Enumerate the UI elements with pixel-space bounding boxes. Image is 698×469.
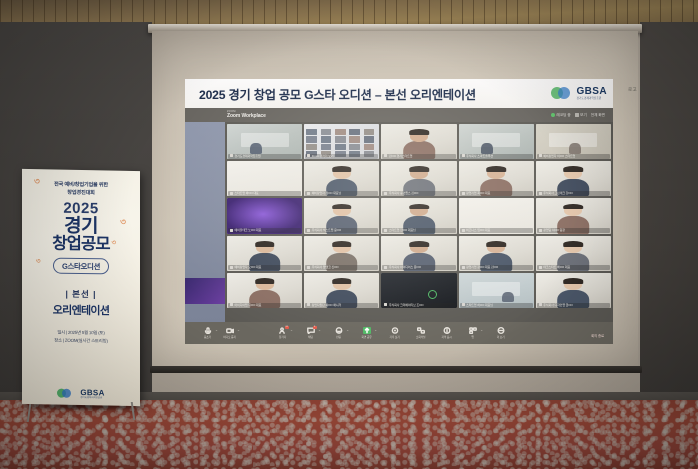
participant-name-label: 경기도경제과학진흥원	[228, 154, 301, 159]
participant-tile[interactable]: 창업기업 장OO 대표 김OO	[459, 236, 534, 271]
zoom-sidebar-panel	[185, 122, 225, 322]
page-title: 2025 경기 창업 공모 G스타 오디션 – 본선 오리엔테이션	[199, 85, 476, 103]
toolbar-button-label: 반응	[336, 335, 341, 339]
room-furniture	[472, 133, 520, 147]
toolbar-button-label: 자막 표시	[442, 335, 452, 339]
microphone-button[interactable]: 음소거	[199, 327, 216, 339]
presentation-slide: 2025 경기 창업 공모 G스타 오디션 – 본선 오리엔테이션 GBSA 경…	[185, 79, 613, 344]
seated-person	[502, 292, 514, 303]
participant-hair	[332, 278, 352, 284]
participant-name-label: 창업기업 장OO 대표 김OO	[460, 265, 533, 270]
participant-name-label: 창업팀 서OO 팀장	[537, 228, 610, 233]
participant-tile[interactable]: 주식회사 그린테크 강OO	[536, 161, 611, 196]
participant-tile[interactable]: 주식회사 아이디어스 문OO	[381, 236, 456, 271]
record-button[interactable]: 기록 보기	[386, 327, 403, 339]
conference-room-photo: 2025 경기 창업 공모 G스타 오디션 – 본선 오리엔테이션 GBSA 경…	[0, 0, 698, 469]
zoom-brand-name: Zoom Workplace	[227, 114, 266, 119]
participant-name-label: 아이디어랩 유OO 대표	[228, 303, 301, 308]
participant-name-label: 창업기업 최OO 대표	[460, 191, 533, 196]
projector-screen-weight-bar	[150, 366, 642, 373]
participant-hair	[486, 241, 506, 247]
banner-logo-row: GBSA 경기도경제과학진흥원	[22, 387, 140, 400]
participant-name-label: 스타트업 허OO 대표님	[460, 303, 533, 308]
gbsa-circles-icon	[551, 87, 573, 100]
gbsa-wordmark: GBSA 경기도경제과학진흥원	[577, 87, 608, 101]
participant-name-label: 예비창업자 오OO 대표	[228, 265, 301, 270]
grid-view-icon	[575, 113, 579, 117]
participants-icon: 74	[279, 327, 287, 334]
shared-screen-thumb	[349, 136, 360, 142]
banner-gbsa-subtitle: 경기도경제과학진흥원	[80, 397, 104, 400]
participant-name-label: 주식회사 팜앤코 신OO	[305, 265, 378, 270]
participant-hair	[409, 166, 429, 172]
slide-title-bar: 2025 경기 창업 공모 G스타 오디션 – 본선 오리엔테이션 GBSA 경…	[185, 79, 613, 108]
participant-name-label: 창업지원단 황OO 매니저	[305, 303, 378, 308]
shared-screen-thumb	[335, 129, 346, 135]
zoom-top-bar: ZOOM Zoom Workplace 레코딩 중 보기	[185, 108, 613, 122]
toolbar-badge-count: 3	[313, 326, 317, 329]
participant-tile[interactable]: 스타트업 허OO 대표님	[459, 273, 534, 308]
participant-name-label: 주식회사 아이디어스 문OO	[382, 265, 455, 270]
participant-hair	[564, 241, 584, 247]
fullscreen-label: 전체 화면	[591, 113, 605, 118]
toolbar-button-label: 참가자	[279, 335, 286, 339]
participant-tile[interactable]: 예비창업자 오OO 대표	[227, 236, 302, 271]
end-meeting-button[interactable]: 회의 종료	[591, 334, 604, 338]
participant-name-label: 예비창업자 정OO 대표님	[305, 191, 378, 196]
toolbar-left-group[interactable]: 음소거⌄비디오 중지⌄	[199, 327, 240, 339]
participants-button[interactable]: 74참가자	[274, 327, 291, 339]
zoom-toolbar[interactable]: 음소거⌄비디오 중지⌄ 74참가자⌄3채팅⌄반응⌄화면 공유⌄기록 보기소회의실…	[185, 322, 613, 344]
shared-screen-thumb	[306, 136, 317, 142]
participant-name-label: 스타트업 박OO 대표	[228, 191, 301, 196]
participant-name-label: 비즈니스 임OO 대표	[460, 228, 533, 233]
share-screen-icon	[363, 327, 371, 334]
participant-tile[interactable]: 주식회사 넥스트랩 윤OO	[304, 198, 379, 233]
zoom-brand: ZOOM Zoom Workplace	[227, 111, 266, 119]
participant-name-label: 주식회사 스마트솔루션	[460, 154, 533, 159]
zoom-idle-icon	[428, 290, 437, 299]
gbsa-subtitle: 경기도경제과학진흥원	[577, 98, 608, 101]
seated-person	[250, 143, 262, 154]
toolbar-button-wrap[interactable]: 74참가자⌄	[274, 327, 293, 339]
reactions-button[interactable]: 반응	[330, 327, 347, 339]
toolbar-button-wrap[interactable]: 3채팅⌄	[302, 327, 321, 339]
rollup-banner: ৩ ৩ ৩ ৩ 전국 예비/창업기업을 위한 창업경진대회 2025 경기 창업…	[22, 169, 140, 406]
participant-hair	[564, 166, 584, 172]
participant-grid: 경기도경제과학진흥원Zoom 갤러리 보기김OO 경기스타트업주식회사 스마트솔…	[226, 123, 612, 309]
banner-subtitle: 오리엔테이션	[30, 302, 132, 319]
participant-tile[interactable]: 주식회사 스마트솔루션	[459, 124, 534, 159]
view-selector[interactable]: 보기	[575, 113, 587, 118]
chevron-down-icon[interactable]: ⌄	[237, 328, 240, 332]
record-icon	[391, 327, 399, 334]
toolbar-button-wrap[interactable]: 화면 공유⌄	[358, 327, 377, 339]
chat-icon: 3	[307, 327, 315, 334]
toolbar-button-label: 앱	[471, 335, 473, 339]
toolbar-button-label: 기록 보기	[390, 335, 400, 339]
banner-headline-2: 창업공모	[30, 236, 132, 254]
video-camera-button[interactable]: 비디오 중지	[221, 327, 238, 339]
shared-screen-thumb	[335, 144, 346, 150]
banner-chip: G스타오디션	[53, 258, 109, 275]
participant-hair	[409, 204, 429, 210]
shared-screen-thumb	[364, 144, 375, 150]
breakout-icon	[417, 327, 425, 334]
recording-indicator[interactable]: 레코딩 중	[551, 113, 571, 118]
toolbar-button-wrap[interactable]: 기록 보기	[386, 327, 403, 339]
seated-person	[481, 143, 493, 154]
projector-screen: 2025 경기 창업 공모 G스타 오디션 – 본선 오리엔테이션 GBSA 경…	[152, 31, 638, 368]
shared-screen-thumb	[321, 129, 332, 135]
toolbar-button-wrap[interactable]: 앱⌄	[464, 327, 483, 339]
toolbar-button-label: 비디오 중지	[223, 335, 236, 339]
toolbar-button-wrap[interactable]: 소회의실	[412, 327, 429, 339]
video-camera-icon	[226, 327, 234, 334]
gbsa-name: GBSA	[577, 87, 608, 97]
banner-rule-text: | 본선 |	[30, 288, 132, 301]
shared-screen-thumb	[321, 144, 332, 150]
toolbar-button-label: 채팅	[308, 335, 313, 339]
shared-screen-thumb	[349, 144, 360, 150]
participant-tile[interactable]: 예비창업자 정OO 대표님	[304, 161, 379, 196]
participant-tile[interactable]: 김OO 경기스타트업	[381, 124, 456, 159]
participant-name-label: 스타트업 한OO 대표님	[382, 228, 455, 233]
shared-screen-thumb	[335, 136, 346, 142]
participant-hair	[332, 241, 352, 247]
participant-tile[interactable]: 스타트업 한OO 대표님	[381, 198, 456, 233]
toolbar-button-wrap[interactable]: 자막 표시	[438, 327, 455, 339]
participant-tile[interactable]: 경기도경제과학진흥원	[227, 124, 302, 159]
toolbar-button-wrap[interactable]: 반응⌄	[330, 327, 349, 339]
participant-tile[interactable]: 창업지원단 황OO 매니저	[304, 273, 379, 308]
shared-screen-thumb	[349, 129, 360, 135]
participant-hair	[332, 166, 352, 172]
shared-screen-thumb	[364, 129, 375, 135]
breakout-button[interactable]: 소회의실	[412, 327, 429, 339]
chat-button[interactable]: 3채팅	[302, 327, 319, 339]
banner-eyebrow-line2: 창업경진대회	[30, 189, 132, 198]
seated-person	[569, 143, 581, 154]
participant-name-label: Zoom 갤러리 보기	[305, 154, 378, 159]
share-screen-button[interactable]: 화면 공유	[358, 327, 375, 339]
participant-hair	[255, 241, 275, 247]
participant-tile[interactable]: 예비창업자 이OO 스타트업	[536, 124, 611, 159]
shared-screen-thumb	[306, 129, 317, 135]
participant-tile[interactable]: Zoom 갤러리 보기	[304, 124, 379, 159]
apps-icon	[469, 327, 477, 334]
banner-gbsa-logo: GBSA 경기도경제과학진흥원	[80, 389, 104, 400]
toolbar-button-wrap[interactable]: 비디오 중지⌄	[221, 327, 240, 339]
participant-name-label: 주식회사 휴먼랩스 김OO	[382, 191, 455, 196]
participant-name-label: 김OO 경기스타트업	[382, 154, 455, 159]
zoom-meeting-window: ZOOM Zoom Workplace 레코딩 중 보기	[185, 108, 613, 344]
participant-hair	[409, 129, 429, 135]
toolbar-center-group[interactable]: 74참가자⌄3채팅⌄반응⌄화면 공유⌄기록 보기소회의실자막 표시앱⌄더 보기	[274, 327, 509, 339]
right-wall	[640, 22, 698, 422]
participant-name-label: 주식회사 디자인랩 권OO	[537, 303, 610, 308]
participant-tile[interactable]: 아이디어랩 유OO 대표	[227, 273, 302, 308]
banner-year: 2025	[30, 200, 132, 216]
chevron-down-icon[interactable]: ⌄	[215, 328, 218, 332]
toolbar-button-wrap[interactable]: 더 보기	[492, 327, 509, 339]
fullscreen-button[interactable]: 전체 화면	[591, 113, 605, 118]
participant-name-label: 주식회사 넥스트랩 윤OO	[305, 228, 378, 233]
room-furniture	[241, 133, 289, 147]
shared-screen-thumb	[364, 136, 375, 142]
participant-name-label: 주식회사 그린테크 강OO	[537, 191, 610, 196]
info-button[interactable]: 자막 표시	[438, 327, 455, 339]
participant-tile[interactable]: 주식회사 팜앤코 신OO	[304, 236, 379, 271]
participant-hair	[255, 278, 275, 284]
participant-tile[interactable]: 창업기업 최OO 대표	[459, 161, 534, 196]
toolbar-button-label: 화면 공유	[362, 335, 372, 339]
participant-tile[interactable]: 주식회사 디자인랩 권OO	[536, 273, 611, 308]
more-icon	[497, 327, 505, 334]
sidebar-thumbnail	[185, 278, 225, 304]
chevron-down-icon[interactable]: ⌄	[480, 328, 483, 332]
participant-tile[interactable]: 창업팀 서OO 팀장	[536, 198, 611, 233]
shared-screen-thumb	[306, 144, 317, 150]
participant-tile[interactable]: 스타트업 박OO 대표	[227, 161, 302, 196]
chevron-down-icon[interactable]: ⌄	[346, 328, 349, 332]
more-button[interactable]: 더 보기	[492, 327, 509, 339]
microphone-icon	[204, 327, 212, 334]
participant-tile[interactable]: 주식회사 휴먼랩스 김OO	[381, 161, 456, 196]
info-icon	[443, 327, 451, 334]
toolbar-button-label: 더 보기	[497, 335, 505, 339]
participant-name-label: 에이블테크 노OO 대표	[228, 228, 301, 233]
participant-hair	[332, 204, 352, 210]
view-label: 보기	[580, 113, 587, 118]
participant-hair	[564, 204, 584, 210]
toolbar-button-label: 음소거	[204, 335, 211, 339]
participant-hair	[564, 278, 584, 284]
chevron-down-icon[interactable]: ⌄	[290, 328, 293, 332]
toolbar-right-group[interactable]: 회의 종료	[591, 324, 613, 342]
participant-tile[interactable]: 주식회사 크리에이티브 조OO	[381, 273, 456, 308]
banner-meta-place: 장소 | ZOOM(실시간 스트리밍)	[30, 336, 132, 345]
shared-screen-thumb	[321, 136, 332, 142]
participant-tile[interactable]: 비즈니스 임OO 대표	[459, 198, 534, 233]
participant-tile[interactable]: 테크스타트 배OO 대표	[536, 236, 611, 271]
participant-hair	[409, 241, 429, 247]
apps-button[interactable]: 앱	[464, 327, 481, 339]
participant-name-label: 테크스타트 배OO 대표	[537, 265, 610, 270]
toolbar-button-label: 소회의실	[416, 335, 426, 339]
toolbar-button-wrap[interactable]: 음소거⌄	[199, 327, 218, 339]
participant-name-label: 예비창업자 이OO 스타트업	[537, 154, 610, 159]
participant-tile[interactable]: 에이블테크 노OO 대표	[227, 198, 302, 233]
reactions-icon	[335, 327, 343, 334]
chevron-down-icon[interactable]: ⌄	[318, 328, 321, 332]
toolbar-badge-count: 74	[285, 326, 289, 329]
participant-hair	[486, 166, 506, 172]
participant-name-label: 주식회사 크리에이티브 조OO	[382, 303, 455, 308]
gyeonggi-logo-icon	[57, 389, 71, 398]
slide-logo-note: 로고	[628, 87, 637, 93]
chevron-down-icon[interactable]: ⌄	[374, 328, 377, 332]
zoom-top-right-controls[interactable]: 레코딩 중 보기 전체 화면	[551, 113, 613, 118]
record-dot-icon	[551, 113, 555, 117]
gbsa-logo: GBSA 경기도경제과학진흥원	[551, 87, 614, 101]
recording-label: 레코딩 중	[556, 113, 570, 118]
